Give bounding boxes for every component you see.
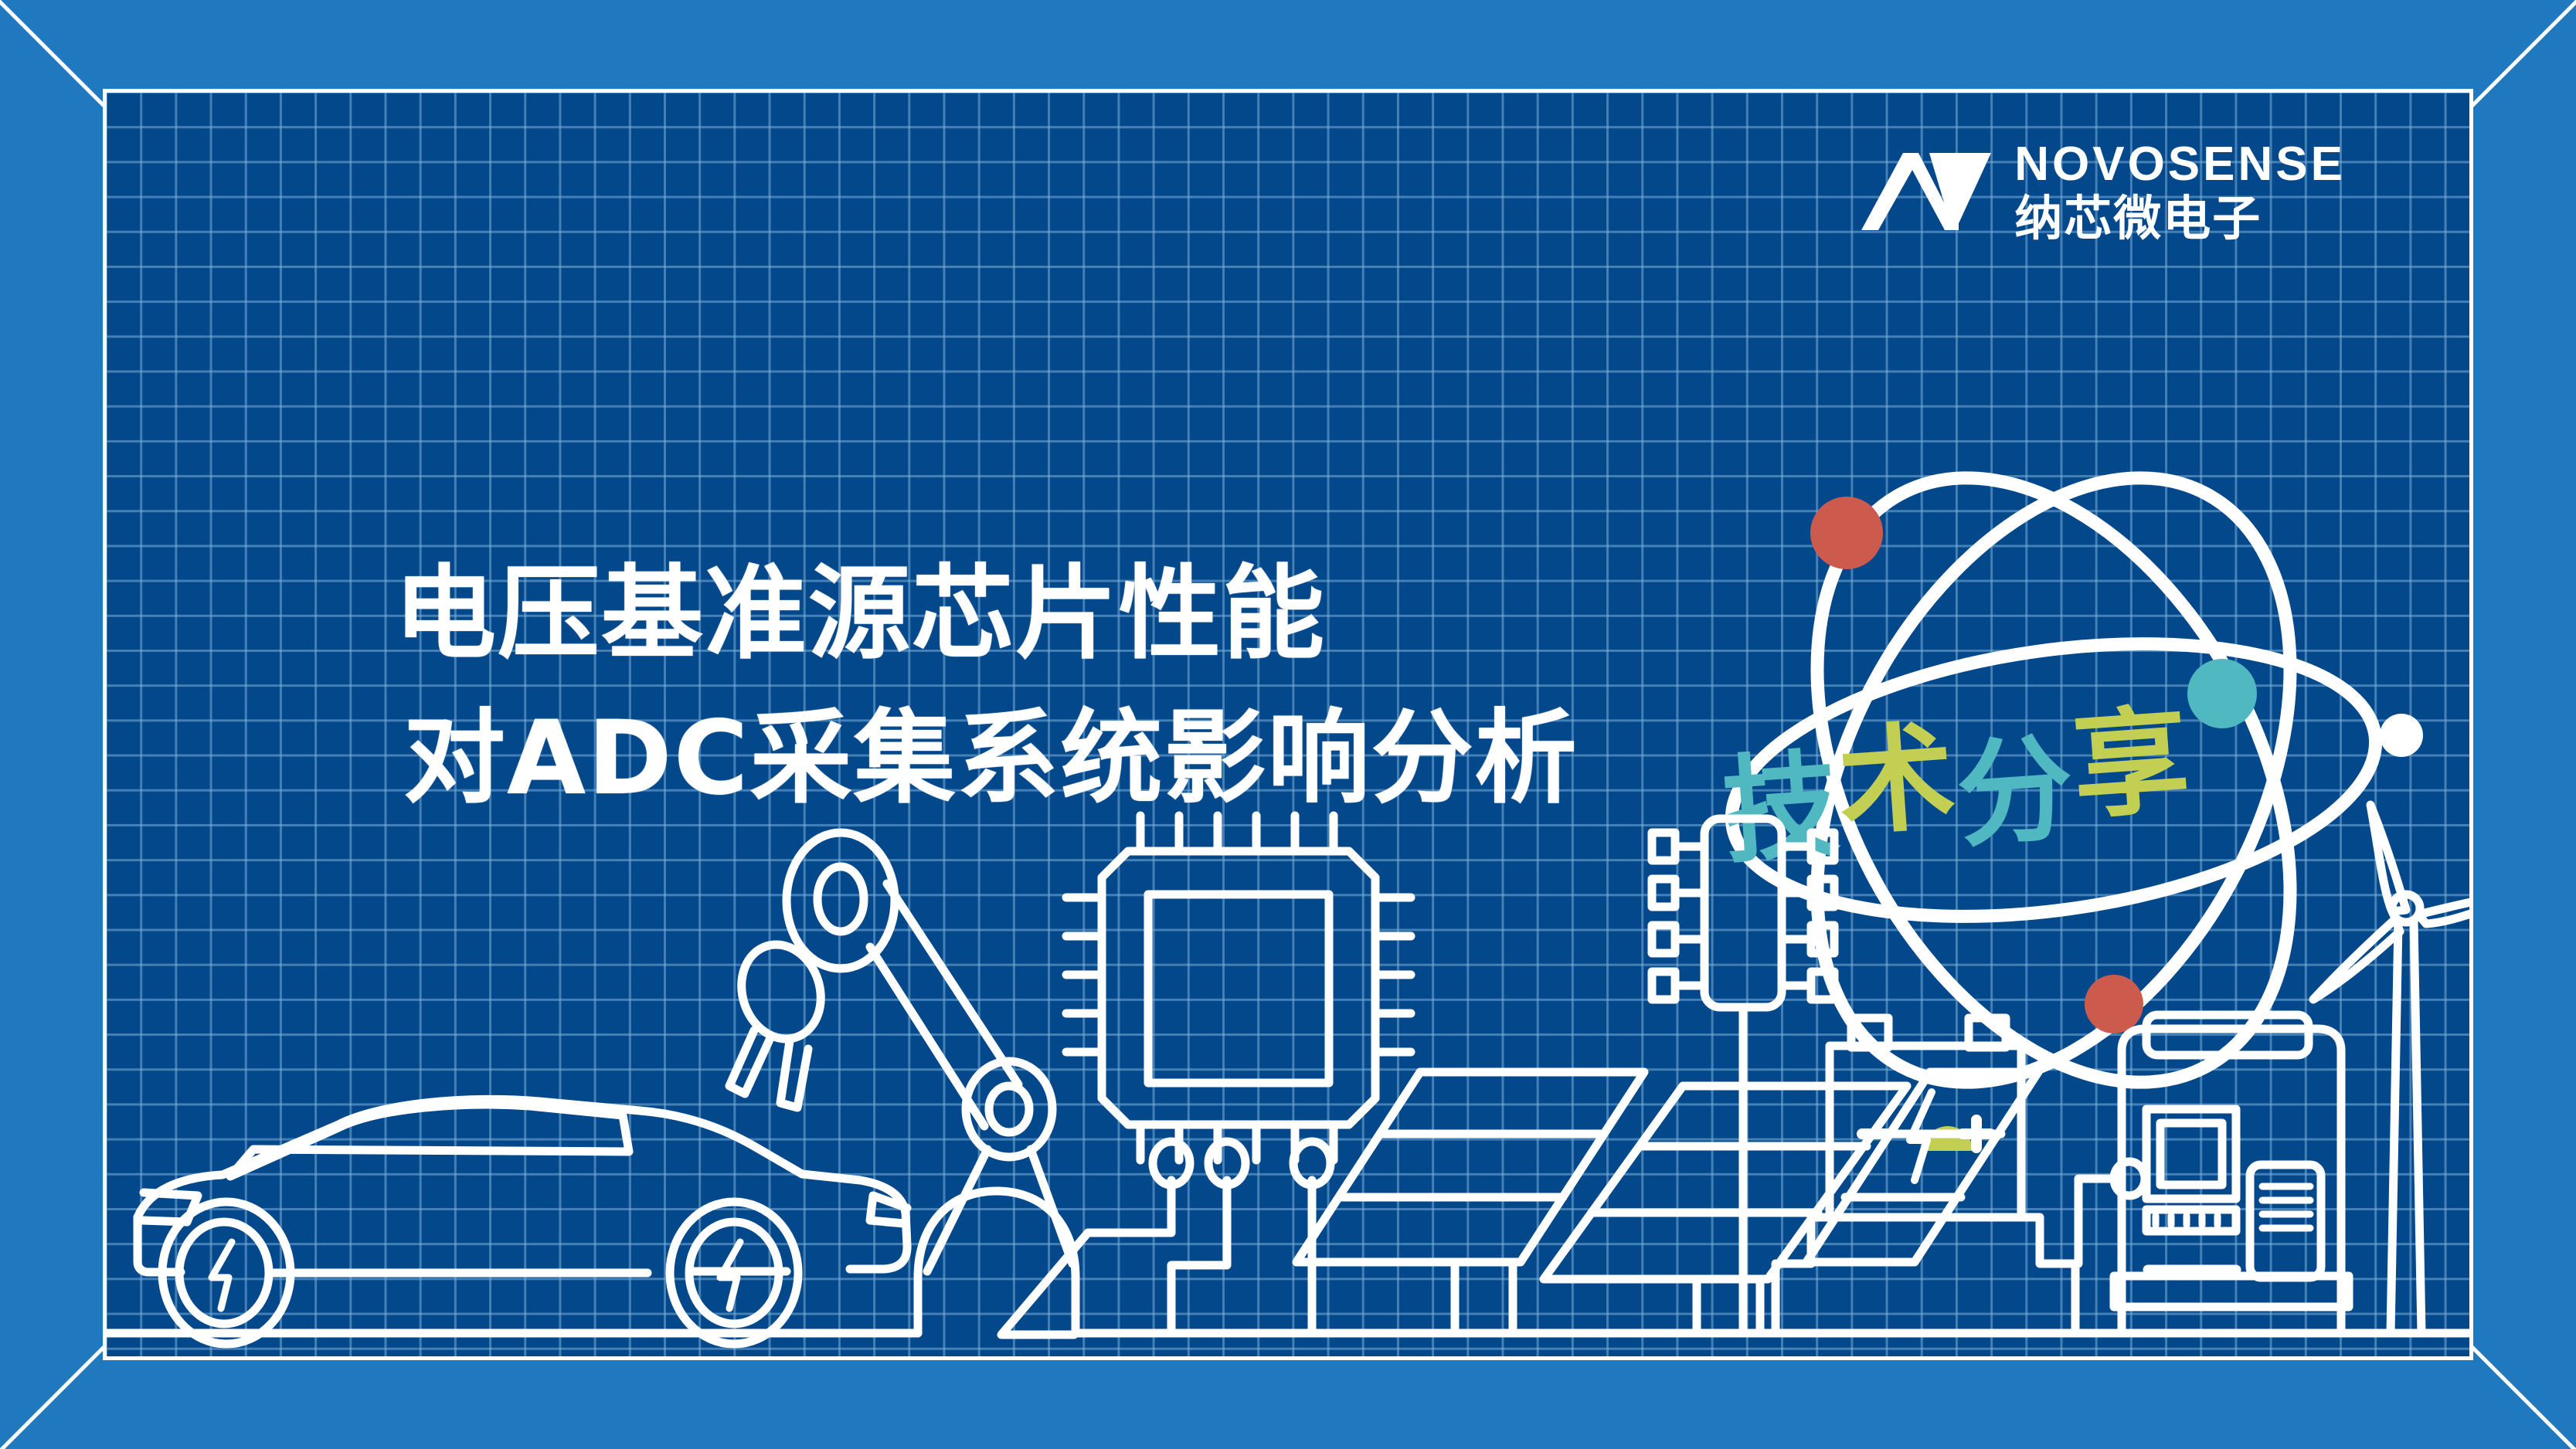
- industrial-cabinet-icon: [2114, 1015, 2349, 1333]
- electric-car-icon: [138, 1099, 907, 1344]
- poster-canvas: 技术分享 电压基准源芯片性能 对ADC采集系统影响分析 NOVOSENSE 纳芯…: [0, 0, 2576, 1449]
- microchip-icon: [1066, 816, 1411, 1160]
- novosense-chevron-logo-icon: [1858, 150, 1994, 233]
- electron-red-top: [1810, 497, 1883, 569]
- power-cable: [2078, 1162, 2145, 1264]
- wind-turbine-icon: [2313, 805, 2469, 1333]
- blueprint-panel: 技术分享 电压基准源芯片性能 对ADC采集系统影响分析 NOVOSENSE 纳芯…: [107, 93, 2469, 1356]
- page-title: 电压基准源芯片性能 对ADC采集系统影响分析: [394, 542, 1579, 832]
- battery-icon: [1776, 1018, 2075, 1333]
- circuit-trace: [1001, 1142, 1330, 1335]
- brand-logo: NOVOSENSE 纳芯微电子: [1858, 141, 2346, 243]
- brand-wordmark: NOVOSENSE 纳芯微电子: [2014, 141, 2346, 243]
- blueprint-application-scenes: [107, 800, 2469, 1356]
- brand-name-cn: 纳芯微电子: [2014, 195, 2346, 243]
- brand-name-en: NOVOSENSE: [2014, 141, 2346, 188]
- title-line-1: 电压基准源芯片性能: [394, 542, 1579, 687]
